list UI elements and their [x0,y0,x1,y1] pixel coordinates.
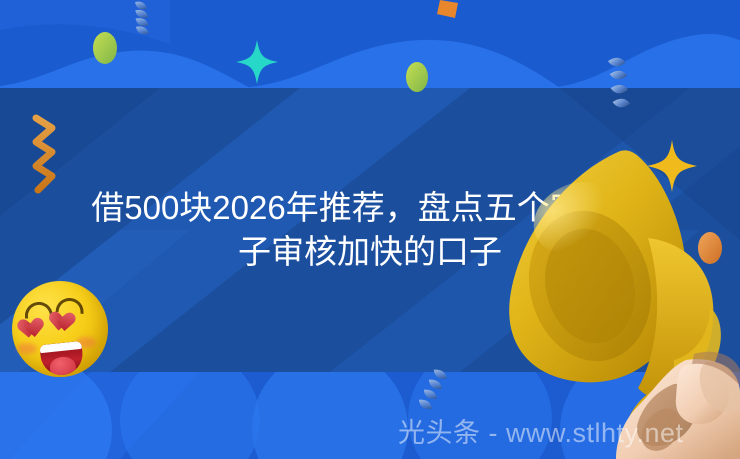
green-oval-balloon-topleft-icon [93,32,117,64]
heart-eyes-emoji [12,281,108,377]
emoji-heart-eye-right [53,312,76,333]
banner-image: 借500块2026年推荐，盘点五个审贷口 子审核加快的口子 光头条 - www.… [0,0,740,459]
emoji-blush-left [17,343,37,354]
emoji-heart-eye-left [22,318,46,340]
megaphone-with-hand-icon [498,110,740,459]
green-oval-balloon-top-icon [406,62,428,92]
